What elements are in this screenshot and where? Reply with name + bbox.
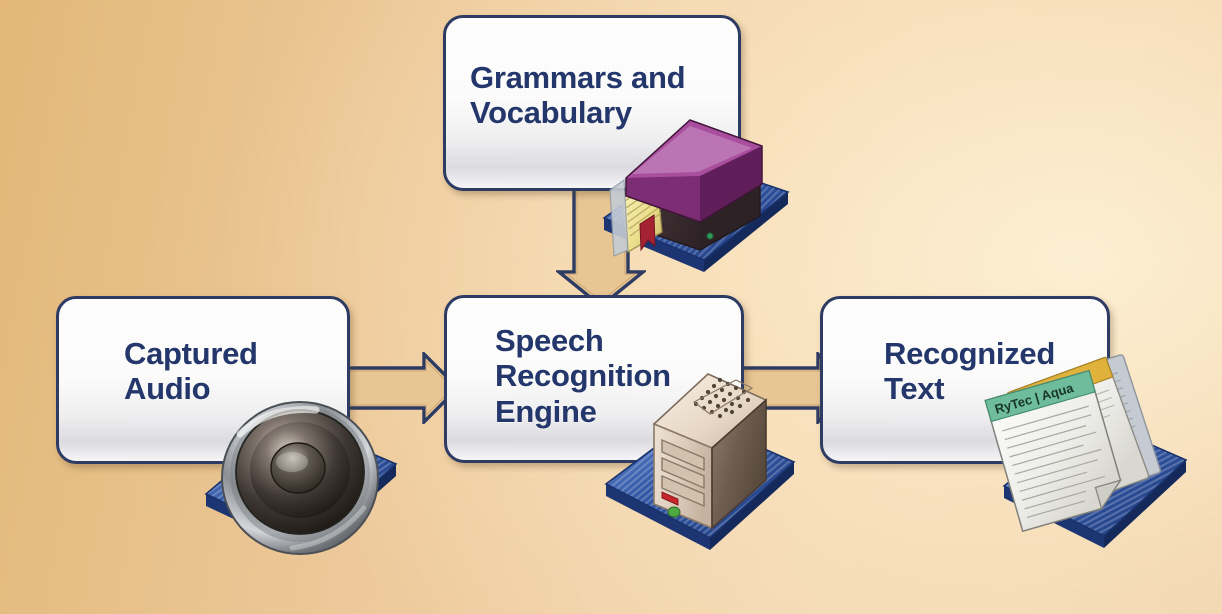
book-icon	[592, 100, 802, 300]
computer-tower-icon	[598, 366, 813, 571]
documents-icon: RyTec | A RyTec | Aqua	[986, 360, 1201, 565]
diagram-canvas: Grammars and Vocabulary Captured Audio S…	[0, 0, 1222, 614]
speaker-icon	[196, 372, 406, 572]
